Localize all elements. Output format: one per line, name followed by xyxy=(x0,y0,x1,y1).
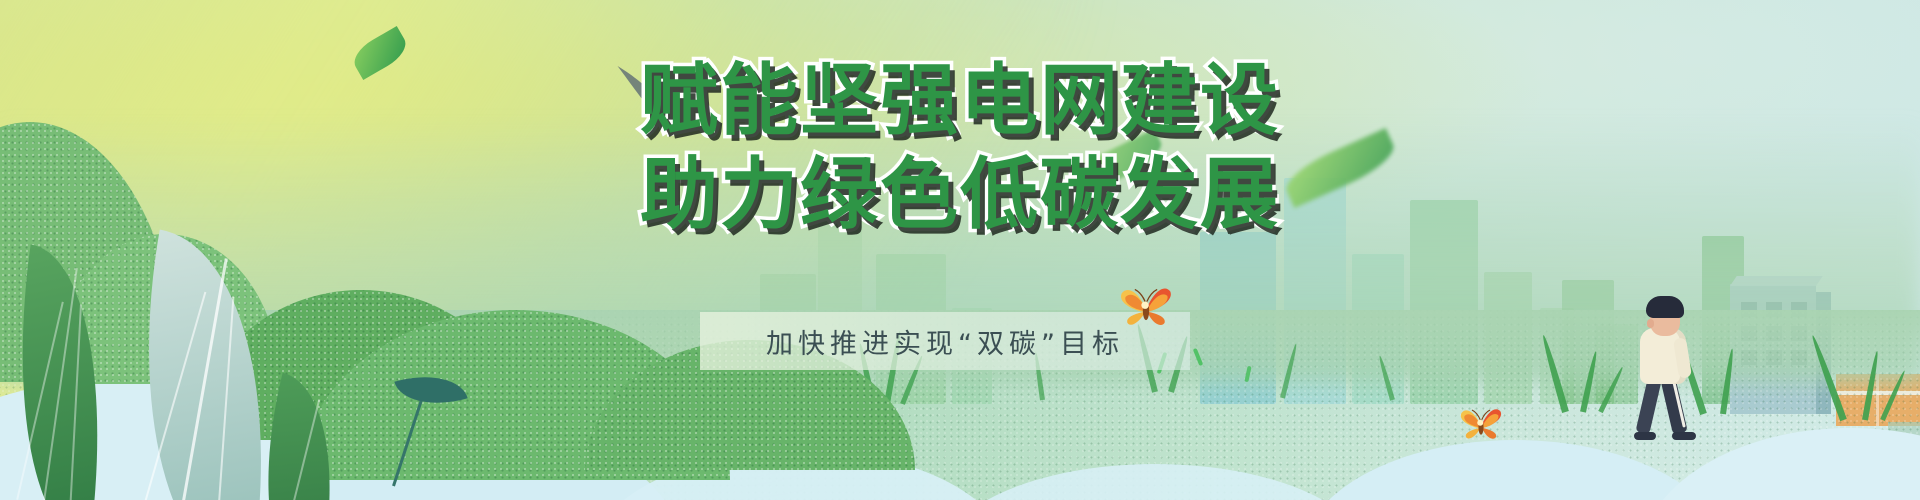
walking-person xyxy=(1632,290,1702,440)
subtitle-bar: 加快推进实现“双碳”目标 xyxy=(700,312,1190,370)
subtitle-text: 加快推进实现“双碳”目标 xyxy=(766,322,1124,361)
person-ear xyxy=(1647,319,1654,328)
butterfly-upper xyxy=(1118,282,1174,334)
person-back-shoe xyxy=(1634,432,1656,440)
butterfly-lower xyxy=(1458,404,1504,446)
title-line-2: 助力绿色低碳发展 xyxy=(0,156,1920,236)
title-line-1: 赋能坚强电网建设 xyxy=(0,62,1920,142)
person-hair xyxy=(1646,296,1684,318)
green-banner: 赋能坚强电网建设 助力绿色低碳发展 加快推进实现“双碳”目标 xyxy=(0,0,1920,500)
banner-title: 赋能坚强电网建设 助力绿色低碳发展 xyxy=(0,62,1920,235)
person-front-shoe xyxy=(1672,432,1696,440)
